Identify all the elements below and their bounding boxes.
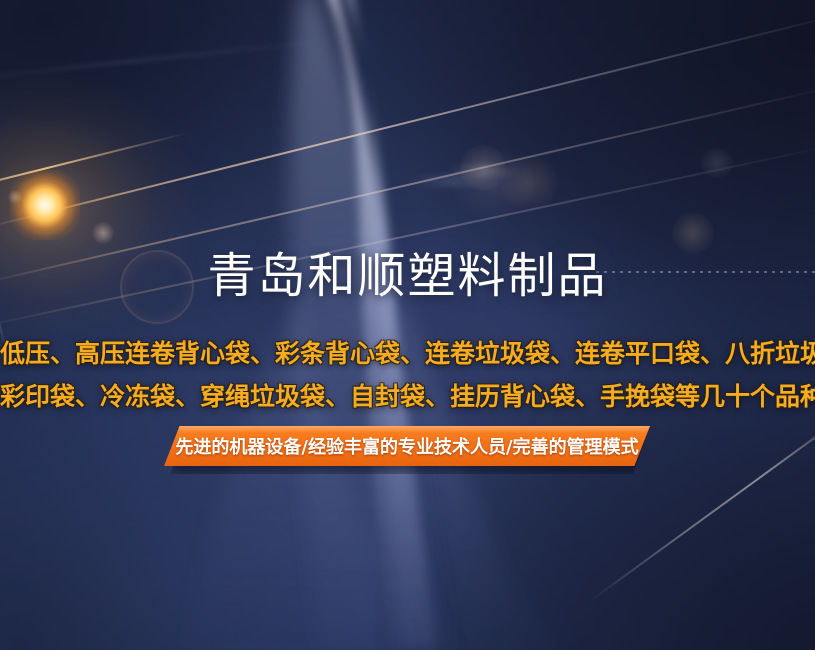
ribbon-tagline-text: 先进的机器设备/经验丰富的专业技术人员/完善的管理模式	[164, 426, 650, 466]
tagline-ribbon: 先进的机器设备/经验丰富的专业技术人员/完善的管理模式	[164, 426, 654, 470]
page-title: 青岛和顺塑料制品	[0, 248, 815, 304]
product-list-line-2: 彩印袋、冷冻袋、穿绳垃圾袋、自封袋、挂历背心袋、手挽袋等几十个品种	[0, 380, 815, 414]
promotional-banner: 青岛和顺塑料制品 低压、高压连卷背心袋、彩条背心袋、连卷垃圾袋、连卷平口袋、八折…	[0, 0, 815, 650]
product-list-line-1: 低压、高压连卷背心袋、彩条背心袋、连卷垃圾袋、连卷平口袋、八折垃圾袋、	[0, 337, 815, 371]
banner-content: 青岛和顺塑料制品 低压、高压连卷背心袋、彩条背心袋、连卷垃圾袋、连卷平口袋、八折…	[0, 0, 815, 650]
